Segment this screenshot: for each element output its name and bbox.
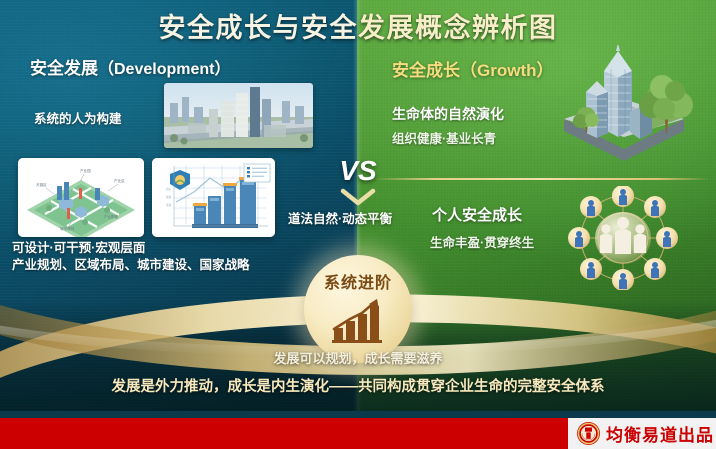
svg-text:城市规划: 城市规划 — [60, 226, 75, 231]
city-skyline-photo — [164, 83, 313, 148]
building-growth-chart-card: 指标规模增速 — [152, 158, 275, 237]
right-subtitle-secondary: 组织健康·基业长青 — [392, 128, 496, 147]
right-heading-en: （Growth） — [460, 61, 554, 80]
page-title-part2: 发展概念辨析图 — [358, 13, 558, 43]
right-mid-title: 个人安全成长 — [432, 204, 522, 225]
right-mid-subtitle: 生命丰盈·贯穿终生 — [430, 232, 534, 251]
footer-bar: 均衡易道出品 — [0, 418, 716, 449]
svg-text:产业区: 产业区 — [114, 178, 125, 183]
bottom-line-1: 发展可以规划，成长需要滋养 — [0, 348, 716, 367]
svg-text:产业配套: 产业配套 — [104, 214, 119, 219]
bar-chart-growth-icon — [330, 295, 386, 345]
left-heading-cn: 安全发展 — [30, 59, 98, 78]
right-gold-divider — [375, 178, 708, 180]
left-heading: 安全发展（Development） — [30, 54, 230, 79]
left-subtitle: 系统的人为构建 — [34, 108, 122, 127]
junheng-yidao-seal-logo — [576, 421, 601, 446]
left-heading-en: （Development） — [98, 61, 230, 78]
brand-block: 均衡易道出品 — [568, 418, 716, 449]
right-heading-cn: 安全成长 — [392, 61, 460, 80]
people-network-illustration — [548, 186, 698, 290]
vs-label: VS — [318, 155, 398, 187]
left-footer-line2: 产业规划、区域布局、城市建设、国家战略 — [12, 257, 250, 274]
page-title-part1: 安全成长与安全 — [159, 13, 359, 43]
left-footer-line1: 可设计·可干预·宏观层面 — [12, 240, 250, 257]
system-progress-orb: 系统进阶 — [304, 255, 412, 363]
svg-text:指标: 指标 — [166, 187, 172, 191]
left-footer-text: 可设计·可干预·宏观层面 产业规划、区域布局、城市建设、国家战略 — [12, 240, 250, 274]
chevron-down-icon — [340, 188, 376, 206]
isometric-city-plan-card: 产业园产业区 天镇区产业配套 城市规划 — [18, 158, 144, 237]
svg-text:天镇区: 天镇区 — [36, 182, 47, 187]
svg-text:规模: 规模 — [166, 195, 172, 199]
bottom-line-2: 发展是外力推动，成长是内生演化——共同构成贯穿企业生命的完整安全体系 — [0, 375, 716, 396]
center-caption: 道法自然·动态平衡 — [288, 208, 392, 227]
infographic-canvas: 安全成长与安全发展概念辨析图 安全发展（Development） 系统的人为构建 — [0, 0, 716, 449]
svg-text:产业园: 产业园 — [80, 168, 91, 173]
svg-text:增速: 增速 — [166, 203, 172, 207]
isometric-tower-tree-illustration — [552, 45, 702, 180]
orb-label: 系统进阶 — [304, 269, 412, 293]
page-title: 安全成长与安全发展概念辨析图 — [0, 6, 716, 45]
right-heading: 安全成长（Growth） — [392, 56, 554, 81]
right-subtitle-primary: 生命体的自然演化 — [392, 104, 504, 124]
brand-text: 均衡易道出品 — [606, 421, 714, 446]
